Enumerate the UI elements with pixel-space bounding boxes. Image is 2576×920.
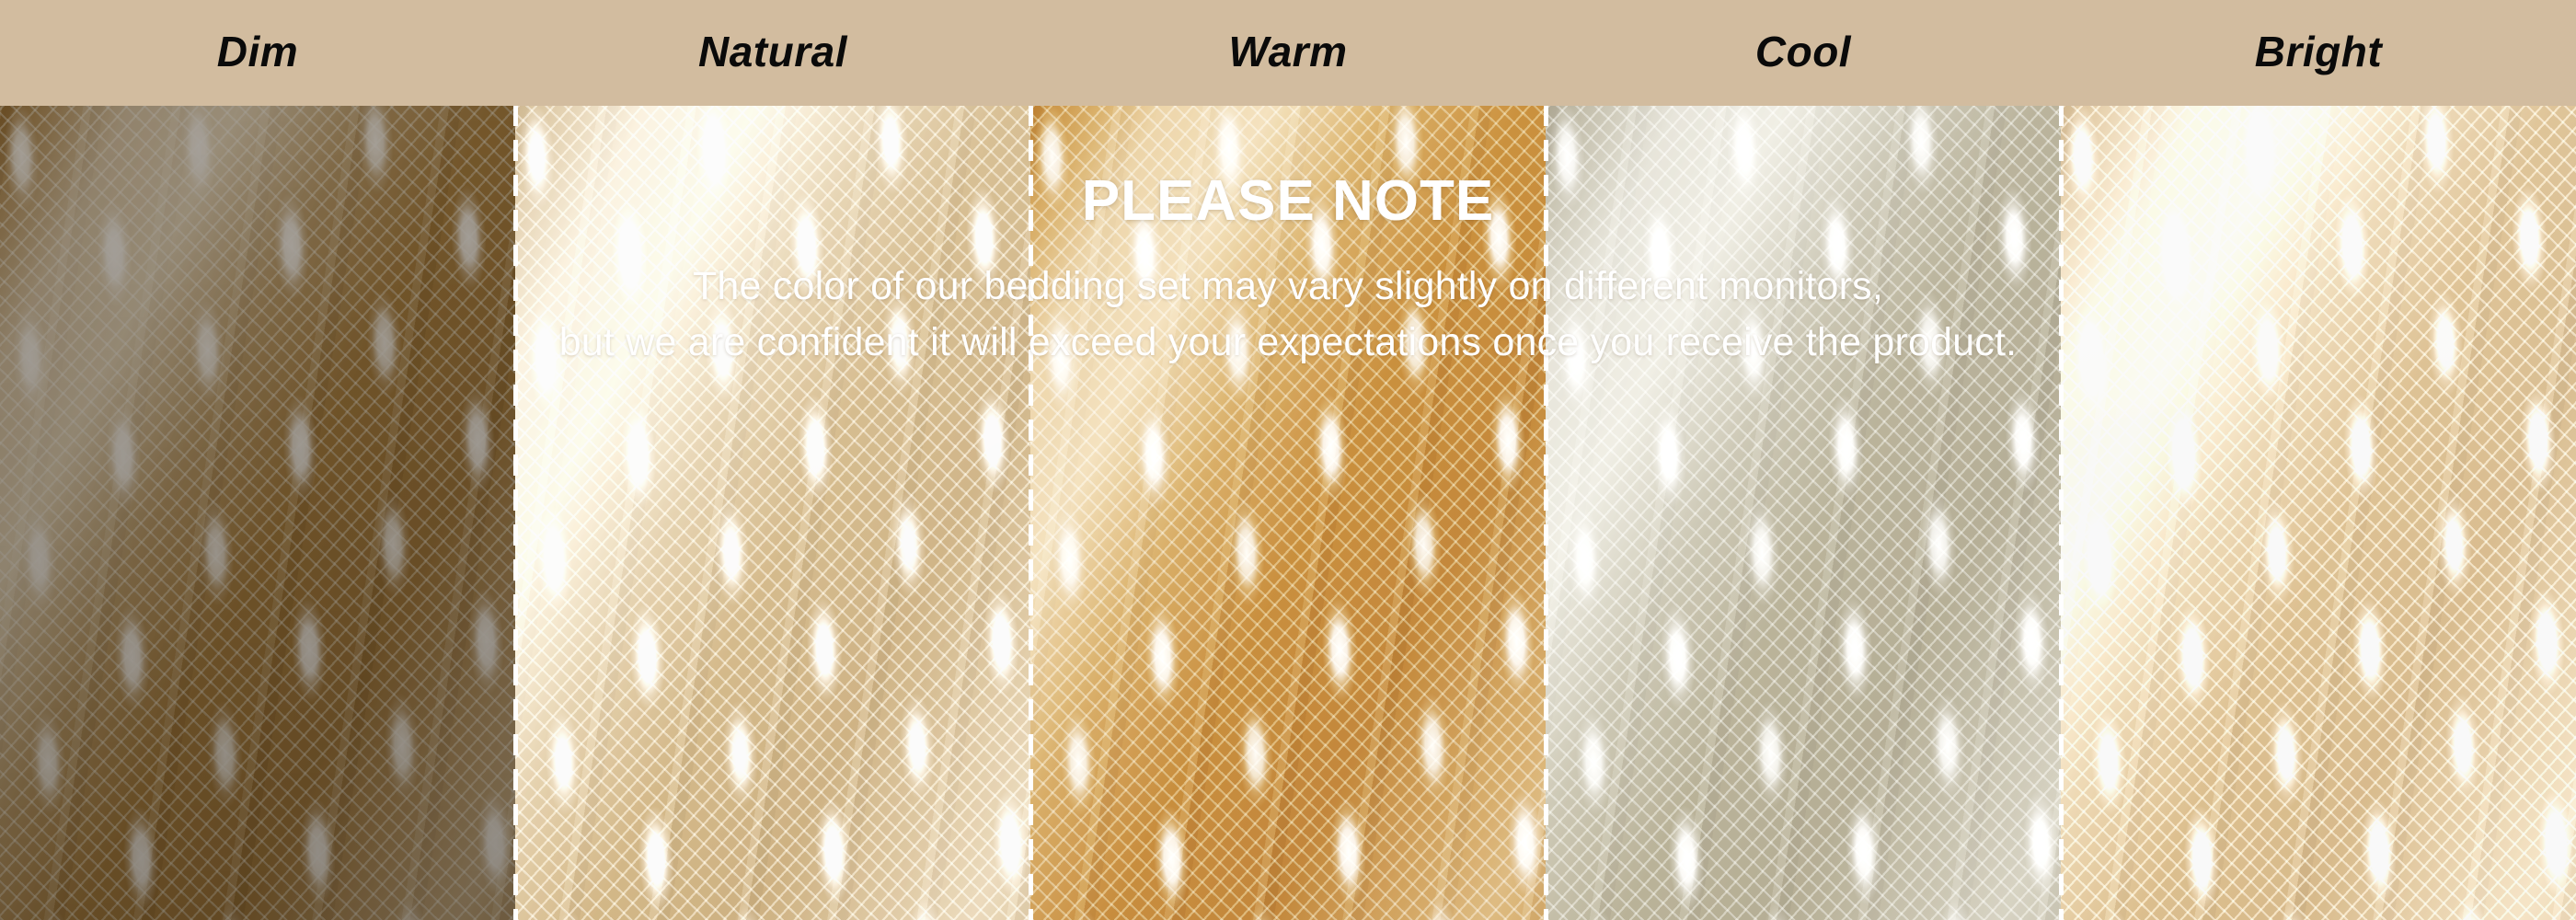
- lighting-label-cool: Cool: [1755, 30, 1851, 73]
- header-cell-natural: Natural: [515, 0, 1030, 106]
- lighting-tint-dim: [0, 106, 515, 920]
- lighting-tint-cool: [1546, 106, 2061, 920]
- lighting-label-bar: Dim Natural Warm Cool Bright: [0, 0, 2576, 106]
- lighting-comparison-banner: Dim Natural Warm Cool Bright PLEASE NOTE…: [0, 0, 2576, 920]
- header-cell-cool: Cool: [1546, 0, 2061, 106]
- fabric-panel-bright: [2061, 106, 2576, 920]
- lighting-label-bright: Bright: [2255, 30, 2382, 73]
- fabric-panel-dim: [0, 106, 515, 920]
- lighting-label-dim: Dim: [217, 30, 298, 73]
- header-cell-dim: Dim: [0, 0, 515, 106]
- fabric-panel-cool: [1546, 106, 2061, 920]
- lighting-tint-bright: [2061, 106, 2576, 920]
- lighting-label-warm: Warm: [1229, 30, 1348, 73]
- fabric-panel-natural: [515, 106, 1030, 920]
- lighting-tint-natural: [515, 106, 1030, 920]
- header-cell-bright: Bright: [2061, 0, 2576, 106]
- lighting-label-natural: Natural: [698, 30, 847, 73]
- header-cell-warm: Warm: [1030, 0, 1546, 106]
- fabric-panel-strip: [0, 106, 2576, 920]
- lighting-tint-warm: [1030, 106, 1546, 920]
- fabric-panel-warm: [1030, 106, 1546, 920]
